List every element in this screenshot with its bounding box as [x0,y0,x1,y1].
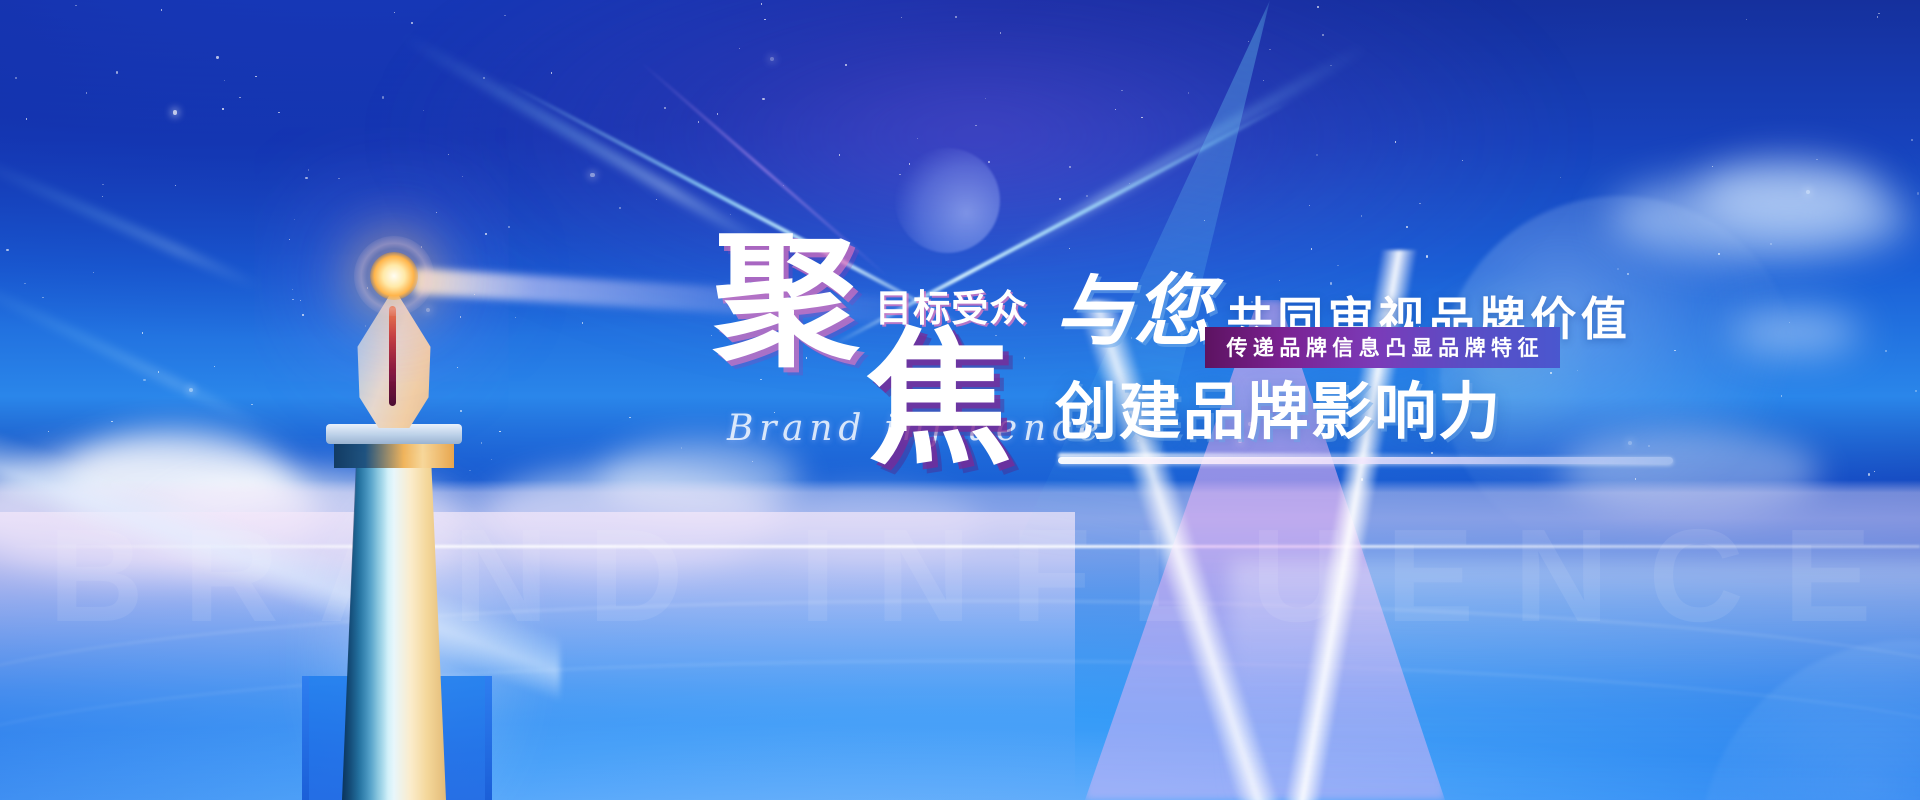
headline-char-jiao: 焦 [866,330,1012,470]
ribbon-badge: 传递品牌信息凸显品牌特征 [1205,327,1560,368]
headline-underline [1058,457,1673,464]
headline-line-2: 创建品牌影响力 [1055,382,1502,444]
headline-lead: 与您 [1055,272,1213,350]
headline-block: Brand influence 聚 目标受众 焦 与您 共同审视品牌价值 传递品… [0,0,1920,800]
banner-canvas: BRAND INFLUENCE Brand influence 聚 目标受众 焦… [0,0,1920,800]
headline-char-ju: 聚 [713,232,859,372]
